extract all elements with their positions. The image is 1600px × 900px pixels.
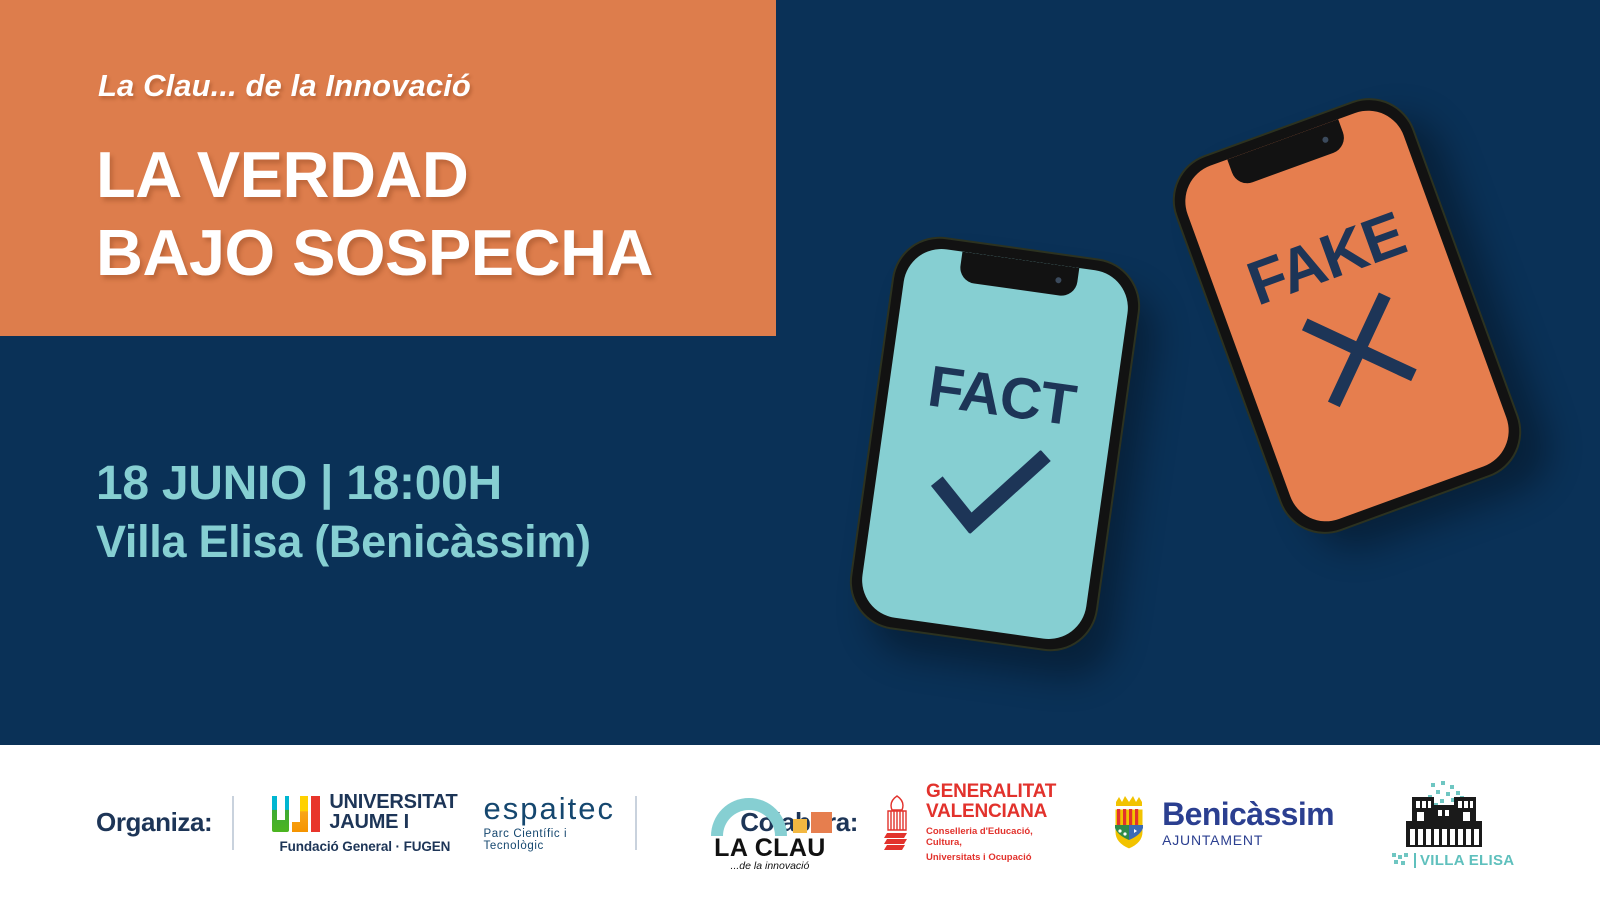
- phone-mockup-fact: FACT: [846, 233, 1144, 655]
- villa-elisa-building-icon: [1384, 779, 1504, 855]
- event-venue: Villa Elisa (Benicàssim): [96, 513, 591, 571]
- espaitec-subtitle: Parc Científic i Tecnològic: [483, 828, 614, 852]
- uji-name-line-1: UNIVERSITAT: [329, 792, 457, 812]
- la-clau-name: LA CLAU: [711, 834, 829, 863]
- sponsor-footer: Organiza: UNIVERSITAT JAUME I Fundació G…: [0, 745, 1600, 900]
- front-camera-icon: [1322, 136, 1330, 144]
- benicassim-crest-icon: [1106, 794, 1152, 852]
- event-poster: La Clau... de la Innovació LA VERDAD BAJ…: [0, 0, 1600, 900]
- arch-icon: [711, 798, 787, 836]
- logo-benicassim: Benicàssim AJUNTAMENT: [1106, 794, 1334, 852]
- event-details: 18 JUNIO | 18:00H Villa Elisa (Benicàssi…: [96, 455, 591, 571]
- event-date: 18 JUNIO | 18:00H: [96, 455, 591, 513]
- villa-elisa-pixel-icon: [1392, 853, 1410, 867]
- benicassim-subtitle: AJUNTAMENT: [1162, 832, 1334, 848]
- yellow-square-icon: [793, 819, 807, 833]
- title-line-2: BAJO SOSPECHA: [96, 214, 653, 292]
- espaitec-name: espaitec: [483, 793, 614, 825]
- villa-elisa-name: VILLA ELISA: [1420, 852, 1514, 869]
- divider: [232, 796, 234, 850]
- page-title: LA VERDAD BAJO SOSPECHA: [96, 136, 653, 292]
- gva-subtitle-line-2: Universitats i Ocupació: [926, 852, 1056, 863]
- orange-square-icon: [811, 812, 832, 833]
- la-clau-subtitle: ...de la innovació: [711, 860, 829, 872]
- gva-subtitle-line-1: Conselleria d'Educació, Cultura,: [926, 826, 1056, 848]
- phone-mockup-fake: FAKE: [1162, 87, 1532, 545]
- gva-name-line-1: GENERALITAT: [926, 782, 1056, 802]
- organiza-label: Organiza:: [96, 807, 212, 838]
- divider: [635, 796, 637, 850]
- front-camera-icon: [1055, 277, 1062, 284]
- poster-kicker: La Clau... de la Innovació: [98, 68, 471, 104]
- uji-mark-icon: [272, 796, 320, 832]
- uji-name-line-2: JAUME I: [329, 812, 457, 832]
- benicassim-name: Benicàssim: [1162, 798, 1334, 830]
- divider: [1414, 853, 1416, 868]
- logo-generalitat-valenciana: GENERALITAT VALENCIANA Conselleria d'Edu…: [878, 782, 1056, 863]
- check-icon: [870, 428, 1107, 551]
- logo-la-clau: LA CLAU ...de la innovació: [711, 786, 740, 860]
- phone-screen: FAKE: [1175, 100, 1520, 532]
- logo-uji: UNIVERSITAT JAUME I Fundació General · F…: [272, 792, 457, 854]
- generalitat-shield-icon: [878, 794, 916, 852]
- phone-label-fact: FACT: [885, 347, 1118, 445]
- uji-subtitle: Fundació General · FUGEN: [279, 839, 450, 854]
- logo-espaitec: espaitec Parc Científic i Tecnològic: [483, 793, 614, 852]
- logo-villa-elisa: VILLA ELISA: [1384, 779, 1504, 867]
- title-line-1: LA VERDAD: [96, 136, 653, 214]
- gva-name-line-2: VALENCIANA: [926, 802, 1056, 822]
